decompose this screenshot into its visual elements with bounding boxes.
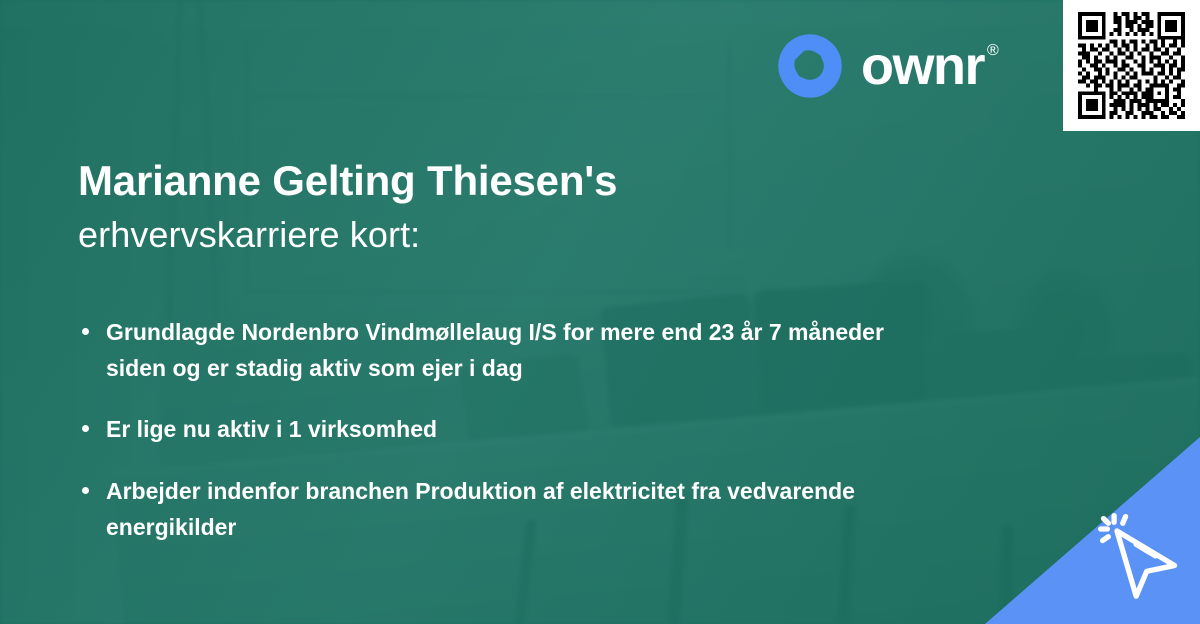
registered-trademark-symbol: ® bbox=[987, 43, 999, 59]
list-item-text: Grundlagde Nordenbro Vindmøllelaug I/S f… bbox=[106, 319, 884, 381]
career-summary-list: Grundlagde Nordenbro Vindmøllelaug I/S f… bbox=[78, 315, 908, 545]
qr-code-panel[interactable] bbox=[1063, 0, 1200, 131]
person-name-heading: Marianne Gelting Thiesen's bbox=[78, 156, 978, 206]
brand-wordmark: ownr bbox=[861, 39, 984, 93]
bullet-dot-icon bbox=[82, 425, 89, 432]
list-item: Arbejder indenfor branchen Produktion af… bbox=[78, 474, 908, 545]
qr-code-icon bbox=[1074, 8, 1189, 123]
ownr-logo[interactable]: ownr ® bbox=[777, 33, 999, 99]
subtitle-heading: erhvervskarriere kort: bbox=[78, 212, 978, 257]
list-item-text: Arbejder indenfor branchen Produktion af… bbox=[106, 478, 855, 540]
business-career-card: ownr ® bbox=[0, 0, 1200, 624]
bullet-dot-icon bbox=[82, 487, 89, 494]
list-item-text: Er lige nu aktiv i 1 virksomhed bbox=[106, 416, 437, 442]
mouse-cursor-click-icon bbox=[1092, 506, 1188, 602]
page-title: Marianne Gelting Thiesen's erhvervskarri… bbox=[78, 156, 978, 257]
list-item: Grundlagde Nordenbro Vindmøllelaug I/S f… bbox=[78, 315, 908, 386]
list-item: Er lige nu aktiv i 1 virksomhed bbox=[78, 412, 908, 448]
bullet-dot-icon bbox=[82, 328, 89, 335]
ownr-swirl-circle-icon bbox=[777, 33, 843, 99]
